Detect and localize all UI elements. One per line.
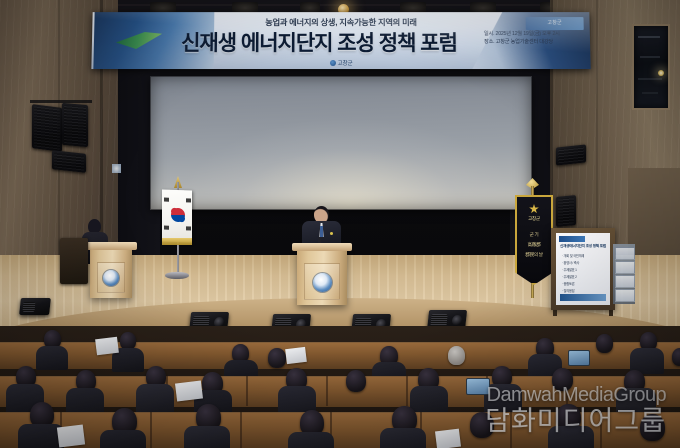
podium-center-emblem-icon [313, 273, 332, 292]
handout-paper [435, 429, 461, 448]
handout-paper [175, 380, 203, 401]
program-board: 신재생에너지단지 조성 정책 포럼 · 개회 및 국민의례 · 환영사 / 축사… [551, 228, 615, 310]
flag-stand-base [165, 272, 189, 279]
audience-area [0, 326, 680, 448]
podium-left-top [85, 242, 137, 250]
auditorium-photo: 고창군 농업과 에너지의 상생, 지속가능한 지역의 미래 신재생 에너지단지 … [0, 0, 680, 448]
line-array-speaker-right-b [556, 195, 576, 227]
program-title: 신재생에너지단지 조성 정책 포럼 [556, 244, 610, 249]
program-line-5: · 종합토론 [562, 281, 574, 286]
line-array-speaker-left-a [32, 104, 62, 152]
program-line-6: · 질의응답 [562, 288, 574, 293]
handout-paper [285, 347, 307, 364]
emblem-star-icon [529, 204, 539, 214]
speaker-tie [320, 226, 323, 237]
program-line-4: · 주제발표 2 [562, 274, 577, 279]
line-array-speaker-right-a [556, 144, 586, 165]
event-banner: 고창군 농업과 에너지의 상생, 지속가능한 지역의 미래 신재생 에너지단지 … [91, 12, 590, 69]
program-line-2: · 환영사 / 축사 [562, 260, 579, 265]
banner-info-date: 일시. 2025년 12월 19일(금) 오후 2시 [484, 30, 588, 38]
tablet-device [568, 350, 590, 366]
wall-light-icon [112, 164, 121, 173]
banner-title: 신재생 에너지단지 조성 정책 포럼 [154, 27, 485, 57]
program-header-tag [559, 236, 585, 242]
speaker-lapel-badge-icon [330, 232, 333, 235]
program-line-1: · 개회 및 국민의례 [562, 253, 584, 258]
korean-flag [162, 189, 192, 242]
podium-left-emblem-icon [103, 270, 119, 286]
ceremonial-banner-title: 고창군 [517, 215, 551, 222]
line-array-speaker-left-b [62, 103, 88, 147]
stage-monitor-5 [19, 298, 51, 315]
control-booth-window [632, 24, 670, 110]
handout-paper [95, 337, 119, 356]
handout-paper [57, 424, 85, 447]
program-line-3: · 주제발표 1 [562, 267, 577, 272]
county-emblem-icon [330, 60, 336, 66]
ceremonial-banner-line-2: 高敞郡 [517, 241, 551, 248]
banner-host-label: 고창군 [338, 61, 353, 67]
flag-fringe [162, 238, 192, 245]
ceremonial-banner: 고창군 군 기 高敞郡 郡民의 날 [515, 195, 553, 285]
ceremonial-banner-line-1: 군 기 [517, 231, 551, 238]
booth-lamp-icon [658, 70, 664, 76]
stage-chair-left [60, 238, 88, 284]
banner-host: 고창군 [91, 59, 590, 67]
program-sheet: 신재생에너지단지 조성 정책 포럼 · 개회 및 국민의례 · 환영사 / 축사… [556, 233, 610, 305]
projection-screen [150, 76, 532, 210]
banner-info: 일시. 2025년 12월 19일(금) 오후 2시 장소. 고창군 농업기술센… [484, 30, 588, 46]
banner-info-place: 장소. 고창군 농업기술센터 대강당 [484, 38, 588, 46]
program-footer [560, 294, 606, 301]
line-array-speaker-left-c [52, 150, 86, 173]
ceremonial-banner-line-3: 郡民의 날 [517, 251, 551, 258]
podium-center-top [292, 243, 352, 251]
podium-left [90, 248, 132, 298]
tablet-device [466, 378, 490, 395]
leaflet-rack [613, 244, 635, 304]
podium-center [297, 249, 347, 305]
